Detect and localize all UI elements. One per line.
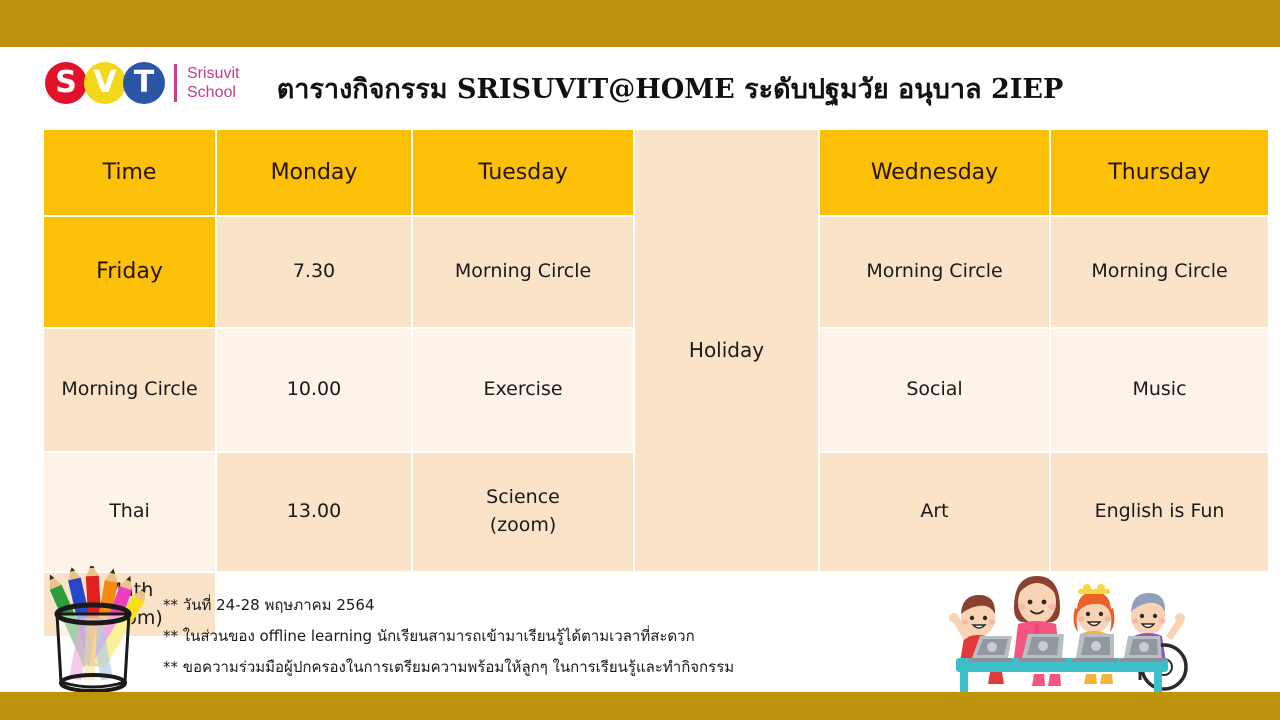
cell-time-row-1: 7.30 xyxy=(217,217,411,327)
cell-time-row-2: 10.00 xyxy=(217,329,411,451)
bottom-gold-bar xyxy=(0,692,1280,720)
footer-notes: ** วันที่ 24-28 พฤษภาคม 2564 ** ในส่วนขอ… xyxy=(163,590,923,683)
laptop-3-icon xyxy=(1072,634,1118,662)
cell-monday-row-3-line2: (zoom) xyxy=(490,512,557,540)
column-header-tuesday: Tuesday xyxy=(413,130,633,215)
shoes-illustration xyxy=(988,672,1113,686)
cell-thursday-row-1: Morning Circle xyxy=(1051,217,1268,327)
cell-time-row-3: 13.00 xyxy=(217,453,411,571)
cell-monday-row-2: Exercise xyxy=(413,329,633,451)
logo-letter-t-icon: T xyxy=(123,62,165,104)
cell-monday-row-1: Morning Circle xyxy=(413,217,633,327)
cell-tuesday-row-1: Morning Circle xyxy=(820,217,1049,327)
logo-name-line2: School xyxy=(187,83,239,102)
school-logo: S V T Srisuvit School xyxy=(45,54,239,112)
column-header-wednesday: Wednesday xyxy=(820,130,1049,215)
activity-schedule-table: Time Monday Tuesday Wednesday Thursday F… xyxy=(44,130,1258,565)
top-gold-bar xyxy=(0,0,1280,47)
cell-thursday-row-2: Music xyxy=(1051,329,1268,451)
logo-letter-s-icon: S xyxy=(45,62,87,104)
cell-monday-row-3: Science (zoom) xyxy=(413,453,633,571)
footer-note-1: ** วันที่ 24-28 พฤษภาคม 2564 xyxy=(163,590,923,621)
logo-letter-v-icon: V xyxy=(84,62,126,104)
cell-tuesday-row-2: Social xyxy=(820,329,1049,451)
cell-friday-row-1: Morning Circle xyxy=(44,329,215,451)
cell-wednesday-holiday: Holiday xyxy=(635,130,818,571)
cell-thursday-row-3: English is Fun xyxy=(1051,453,1268,571)
logo-name-line1: Srisuvit xyxy=(187,64,239,83)
column-header-monday: Monday xyxy=(217,130,411,215)
cell-monday-row-3-line1: Science xyxy=(486,484,560,512)
laptop-4-icon xyxy=(1120,636,1166,662)
cell-tuesday-row-3: Art xyxy=(820,453,1049,571)
pencil-cup-icon xyxy=(33,566,153,694)
column-header-time: Time xyxy=(44,130,215,215)
footer-note-3: ** ขอความร่วมมือผู้ปกครองในการเตรียมความ… xyxy=(163,652,923,683)
logo-divider xyxy=(174,64,177,102)
logo-school-name: Srisuvit School xyxy=(187,64,239,102)
footer-note-2: ** ในส่วนของ offline learning นักเรียนสา… xyxy=(163,621,923,652)
column-header-thursday: Thursday xyxy=(1051,130,1268,215)
cell-friday-row-2: Thai xyxy=(44,453,215,571)
column-header-friday: Friday xyxy=(44,217,215,327)
kids-with-laptops-illustration xyxy=(942,562,1190,697)
page-header: ตารางกิจกรรม SRISUVIT@HOME ระดับปฐมวัย อ… xyxy=(0,47,1280,130)
cup-icon xyxy=(57,605,129,691)
